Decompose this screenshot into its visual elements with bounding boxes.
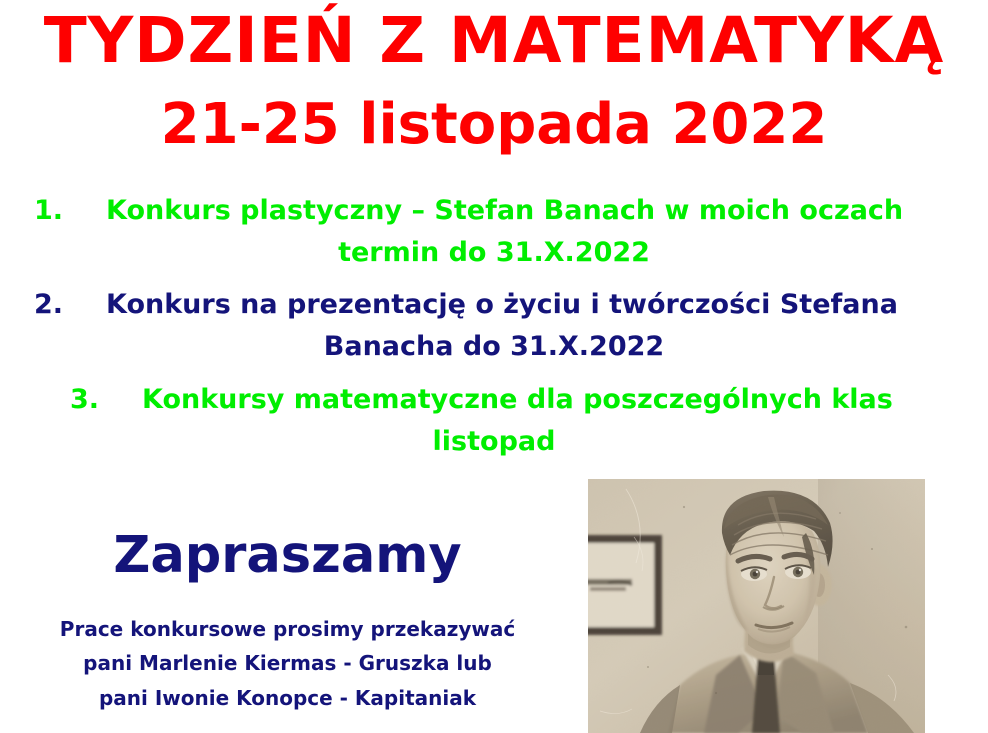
contact-line-2: pani Marlenie Kiermas - Gruszka lub (0, 646, 575, 680)
list-item-1-continuation: termin do 31.X.2022 (0, 232, 988, 274)
list-item-3: 3.Konkursy matematyczne dla poszczególny… (0, 379, 988, 463)
stefan-banach-portrait-photo (588, 479, 925, 733)
portrait-photo-graphic (588, 479, 925, 733)
contact-line-1: Prace konkursowe prosimy przekazywać (0, 612, 575, 646)
list-item-3-main-row: 3.Konkursy matematyczne dla poszczególny… (0, 379, 988, 421)
contact-block: Prace konkursowe prosimy przekazywać pan… (0, 612, 575, 715)
list-item-2-number: 2. (34, 284, 106, 326)
list-item-2: 2.Konkurs na prezentację o życiu i twórc… (0, 284, 988, 368)
list-item-3-number: 3. (70, 379, 142, 421)
list-item-2-main-row: 2.Konkurs na prezentację o życiu i twórc… (0, 284, 988, 326)
poster-canvas: TYDZIEŃ Z MATEMATYKĄ 21-25 listopada 202… (0, 0, 988, 733)
list-item-1: 1.Konkurs plastyczny – Stefan Banach w m… (0, 190, 988, 274)
poster-title-line-2: 21-25 listopada 2022 (0, 96, 988, 155)
list-item-1-text: Konkurs plastyczny – Stefan Banach w moi… (106, 195, 903, 226)
list-item-1-number: 1. (34, 190, 106, 232)
contact-line-3: pani Iwonie Konopce - Kapitaniak (0, 681, 575, 715)
list-item-1-main-row: 1.Konkurs plastyczny – Stefan Banach w m… (0, 190, 988, 232)
list-item-3-continuation: listopad (0, 421, 988, 463)
poster-title-line-1: TYDZIEŃ Z MATEMATYKĄ (0, 8, 988, 74)
invitation-heading: Zapraszamy (0, 526, 575, 585)
list-item-3-text: Konkursy matematyczne dla poszczególnych… (142, 384, 893, 415)
list-item-2-continuation: Banacha do 31.X.2022 (0, 326, 988, 368)
list-item-2-text: Konkurs na prezentację o życiu i twórczo… (106, 289, 898, 320)
